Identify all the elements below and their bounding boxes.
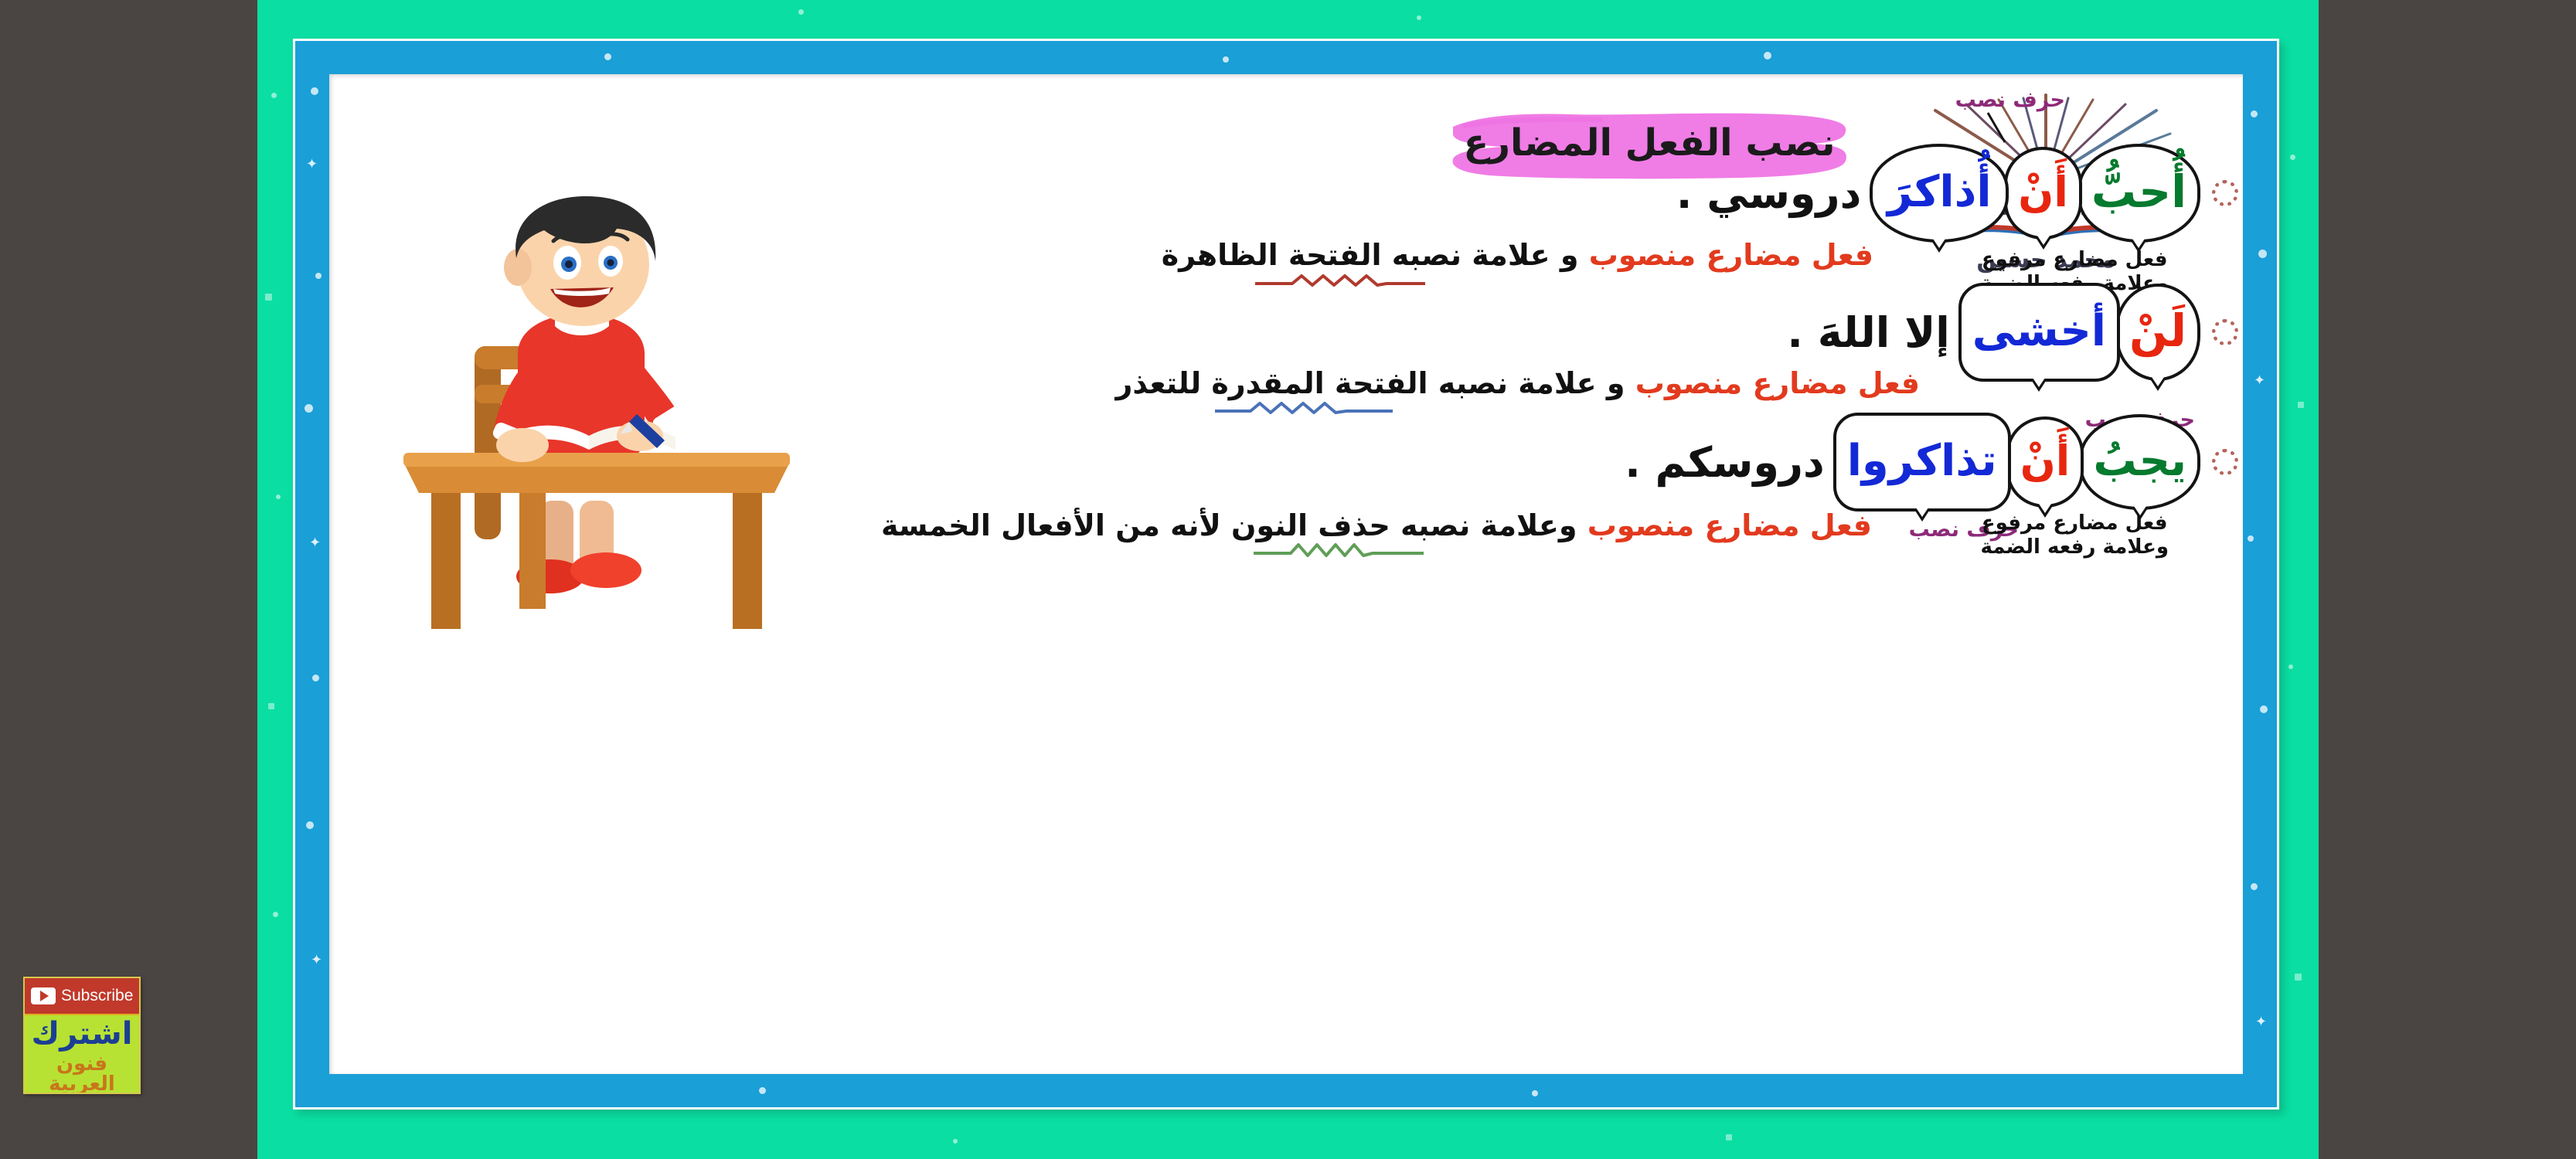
squiggle-underline-2	[1215, 399, 1393, 419]
sparkle-star-icon: ✦	[2255, 1015, 2267, 1028]
sparkle-dot	[2288, 664, 2293, 669]
word-text: دروسي .	[1666, 169, 1872, 218]
verb-note-line-2: وعلامة رفعه الضمة	[1980, 535, 2169, 559]
word-text: أخشى	[1972, 306, 2106, 356]
sparkle-dot	[315, 273, 322, 279]
word-text: أَنْ	[2020, 437, 2071, 485]
sparkle-dot	[1764, 52, 1771, 59]
analysis-2: فعل مضارع منصوب و علامة نصبه الفتحة المق…	[1116, 366, 1920, 400]
analysis-rest: وعلامة نصبه حذف النون لأنه من الأفعال ال…	[881, 508, 1577, 542]
sparkle-dot	[759, 1087, 766, 1094]
word-text: أُحبُّ	[2091, 165, 2186, 218]
word-bubble: تذاكروا	[1833, 413, 2011, 512]
sparkle-dot	[306, 821, 314, 829]
sparkle-dot	[265, 294, 272, 301]
sparkle-star-icon: ✦	[309, 535, 321, 549]
word-text: تذاكروا	[1847, 436, 1997, 486]
sparkle-dot	[798, 9, 804, 15]
sparkle-dot	[273, 912, 278, 917]
student-illustration	[357, 190, 805, 654]
sparkle-dot	[2248, 535, 2254, 542]
slide-frame: ✦ ✦ ✦ ✦ ✦	[293, 39, 2279, 1110]
sparkle-dot	[2251, 110, 2258, 117]
subscribe-badge[interactable]: Subscribe اشترك فنون العربية	[23, 977, 141, 1094]
word-bubble: أَنْ	[2004, 147, 2082, 240]
sparkle-star-icon: ✦	[2254, 373, 2265, 387]
sparkle-dot	[2290, 155, 2295, 160]
analysis-1: فعل مضارع منصوب و علامة نصبه الفتحة الظا…	[1162, 238, 1873, 272]
word-text: دروسكم .	[1614, 438, 1836, 487]
sparkle-dot	[2260, 705, 2268, 713]
sentence-3: يجبُ أَنْ تذاكروا دروسكم .	[1614, 413, 2238, 512]
bullet-marker	[2212, 319, 2238, 345]
sparkle-dot	[1223, 56, 1229, 63]
sparkle-dot	[305, 404, 313, 413]
word-bubble: أخشى	[1958, 283, 2120, 382]
analysis-highlight: فعل مضارع منصوب	[1587, 508, 1872, 542]
sparkle-dot	[268, 703, 274, 709]
sparkle-dot	[312, 675, 319, 681]
sentence-1: أُحبُّ أَنْ أُذاكرَ دروسي .	[1666, 144, 2238, 243]
word-bubble: أَنْ	[2006, 416, 2084, 508]
verb-note-3: فعل مضارع مرفوع وعلامة رفعه الضمة	[1980, 512, 2169, 559]
squiggle-underline-1	[1255, 271, 1425, 291]
word-text: يجبُ	[2093, 436, 2186, 486]
subscribe-button[interactable]: Subscribe	[25, 978, 139, 1015]
squiggle-underline-3	[1254, 541, 1424, 561]
sparkle-dot	[2295, 974, 2302, 981]
sparkle-star-icon: ✦	[311, 953, 322, 967]
sparkle-dot	[1726, 1134, 1732, 1140]
tag-leader-line	[1982, 111, 2017, 147]
sparkle-dot	[1532, 1090, 1538, 1096]
word-bubble: أُذاكرَ	[1870, 144, 2009, 243]
screen: ✦ ✦ ✦ ✦ ✦	[0, 0, 2576, 1159]
analysis-rest: و علامة نصبه الفتحة الظاهرة	[1162, 238, 1579, 272]
particle-tag-1: حرف نصب	[1955, 88, 2065, 112]
word-text: أُذاكرَ	[1887, 167, 1992, 217]
subscribe-label-arabic: اشترك	[25, 1018, 139, 1049]
sparkle-dot	[271, 93, 277, 98]
word-bubble: لَنْ	[2115, 284, 2200, 381]
sparkle-star-icon: ✦	[306, 157, 318, 171]
word-text: إلا اللهَ .	[1776, 308, 1960, 357]
word-bubble: يجبُ	[2079, 414, 2200, 510]
analysis-highlight: فعل مضارع منصوب	[1635, 366, 1920, 400]
slide-canvas: ✦ ✦ ✦ ✦ ✦	[257, 0, 2319, 1159]
sparkle-dot	[604, 53, 611, 60]
word-text: لَنْ	[2129, 304, 2186, 357]
verb-note-line-1: فعل مضارع مرفوع	[1980, 248, 2169, 272]
bullet-marker	[2212, 180, 2238, 206]
subscribe-brand: فنون العربية	[25, 1054, 139, 1094]
sparkle-dot	[2258, 250, 2267, 258]
lesson-card: فنون العربية محمد حسين نصب الفعل المضارع	[329, 74, 2243, 1074]
play-icon	[31, 987, 56, 1004]
sparkle-dot	[276, 495, 281, 499]
word-text: أَنْ	[2018, 168, 2068, 216]
analysis-rest: و علامة نصبه الفتحة المقدرة للتعذر	[1116, 366, 1625, 400]
sparkle-dot	[311, 87, 318, 95]
sparkle-dot	[2298, 402, 2304, 408]
sparkle-dot	[1417, 15, 1421, 20]
sparkle-dot	[953, 1139, 958, 1144]
bullet-marker	[2212, 449, 2238, 475]
analysis-3: فعل مضارع منصوب وعلامة نصبه حذف النون لأ…	[881, 508, 1872, 542]
subscribe-label: Subscribe	[61, 987, 133, 1005]
sparkle-dot	[2251, 883, 2258, 890]
analysis-highlight: فعل مضارع منصوب	[1589, 238, 1873, 272]
word-bubble: أُحبُّ	[2077, 144, 2200, 243]
